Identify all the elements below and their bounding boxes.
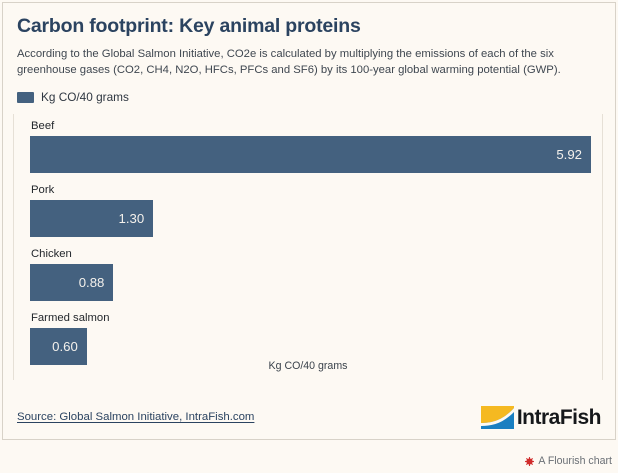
bar-category-label: Farmed salmon <box>31 312 591 325</box>
plot-area: Beef 5.92 Pork 1.30 <box>13 114 603 380</box>
bar-track: 0.88 <box>30 264 591 301</box>
flourish-credit[interactable]: A Flourish chart <box>525 455 612 467</box>
chart-footer: Source: Global Salmon Initiative, IntraF… <box>3 395 615 439</box>
chart-card: Carbon footprint: Key animal proteins Ac… <box>2 2 616 440</box>
bar-row: Chicken 0.88 <box>30 248 591 301</box>
bar-row: Pork 1.30 <box>30 184 591 237</box>
chart-subtitle: According to the Global Salmon Initiativ… <box>17 46 597 78</box>
intrafish-logo-icon <box>481 406 514 429</box>
source-link[interactable]: Source: Global Salmon Initiative, IntraF… <box>17 411 254 423</box>
bar-category-label: Chicken <box>31 248 591 261</box>
flourish-credit-label: A Flourish chart <box>538 455 612 467</box>
flourish-dot-icon <box>525 457 534 466</box>
intrafish-logo: IntraFish <box>481 406 601 429</box>
chart-legend[interactable]: Kg CO/40 grams <box>3 78 615 104</box>
intrafish-logo-wordmark: IntraFish <box>517 407 601 428</box>
bar-list: Beef 5.92 Pork 1.30 <box>30 120 591 365</box>
bar-category-label: Beef <box>31 120 591 133</box>
legend-swatch-icon <box>17 92 34 103</box>
bar-value-label: 5.92 <box>556 147 582 162</box>
chart-header: Carbon footprint: Key animal proteins Ac… <box>3 3 615 78</box>
bar-category-label: Pork <box>31 184 591 197</box>
bar-track: 1.30 <box>30 200 591 237</box>
bar-fill[interactable]: 1.30 <box>30 200 153 237</box>
bar-value-label: 1.30 <box>119 211 145 226</box>
bar-track: 5.92 <box>30 136 591 173</box>
x-axis-title: Kg CO/40 grams <box>14 360 602 372</box>
page-title: Carbon footprint: Key animal proteins <box>17 15 601 37</box>
bar-fill[interactable]: 0.88 <box>30 264 113 301</box>
legend-label: Kg CO/40 grams <box>41 90 129 104</box>
bar-row: Farmed salmon 0.60 <box>30 312 591 365</box>
chart-frame: Carbon footprint: Key animal proteins Ac… <box>0 0 618 473</box>
bar-row: Beef 5.92 <box>30 120 591 173</box>
bar-fill[interactable]: 5.92 <box>30 136 591 173</box>
bar-value-label: 0.88 <box>79 275 105 290</box>
bar-value-label: 0.60 <box>52 339 78 354</box>
